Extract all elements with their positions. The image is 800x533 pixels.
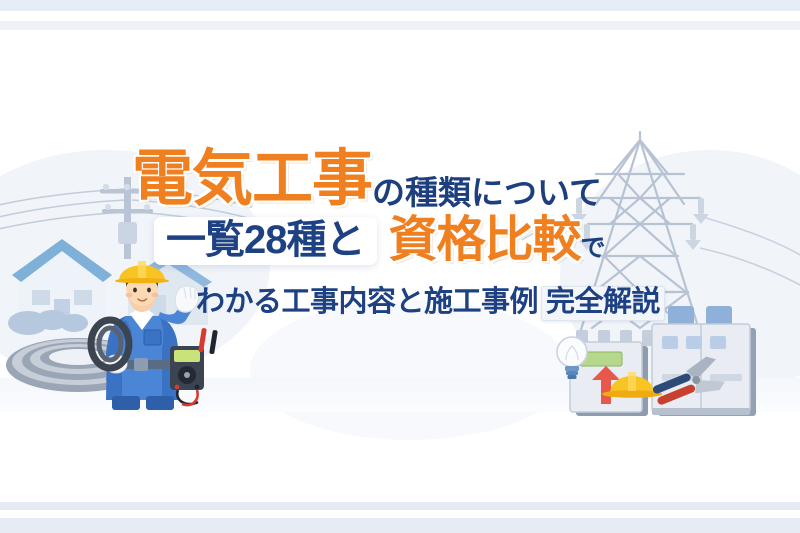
headline-line2-emphasis-group: 資格比較で: [389, 216, 606, 265]
headline-line3-main: わかる工事内容と施工事例: [196, 288, 538, 317]
top-accent-band: [0, 0, 800, 11]
headline-line-2: 一覧28種と 資格比較で: [154, 216, 606, 265]
headline-block: 電気工事の種類について 一覧28種と 資格比較で わかる工事内容と施工事例 完全…: [128, 148, 648, 338]
headline-line2-suffix: で: [581, 234, 606, 262]
bottom-accent-band: [0, 502, 800, 510]
chip-kanzen-kaisetsu: 完全解説: [541, 286, 665, 321]
chip-ichiran-28shu: 一覧28種と: [154, 217, 377, 265]
headline-emphasis-denki-koji: 電気工事: [132, 144, 372, 212]
multimeter-icon: [170, 328, 218, 405]
hero-banner: 電気工事の種類について 一覧28種と 資格比較で わかる工事内容と施工事例 完全…: [0, 0, 800, 533]
chip-ichiran-28shu-label: 一覧28種と: [166, 218, 365, 262]
headline-emphasis-shikaku-hikaku: 資格比較: [389, 213, 581, 267]
top-secondary-band: [0, 21, 800, 30]
headline-line1-rest: の種類について: [372, 174, 602, 211]
bottom-secondary-band: [0, 518, 800, 533]
headline-line-3: わかる工事内容と施工事例 完全解説: [196, 286, 665, 321]
headline-line-1: 電気工事の種類について: [132, 148, 602, 209]
chip-kanzen-kaisetsu-label: 完全解説: [546, 286, 660, 318]
